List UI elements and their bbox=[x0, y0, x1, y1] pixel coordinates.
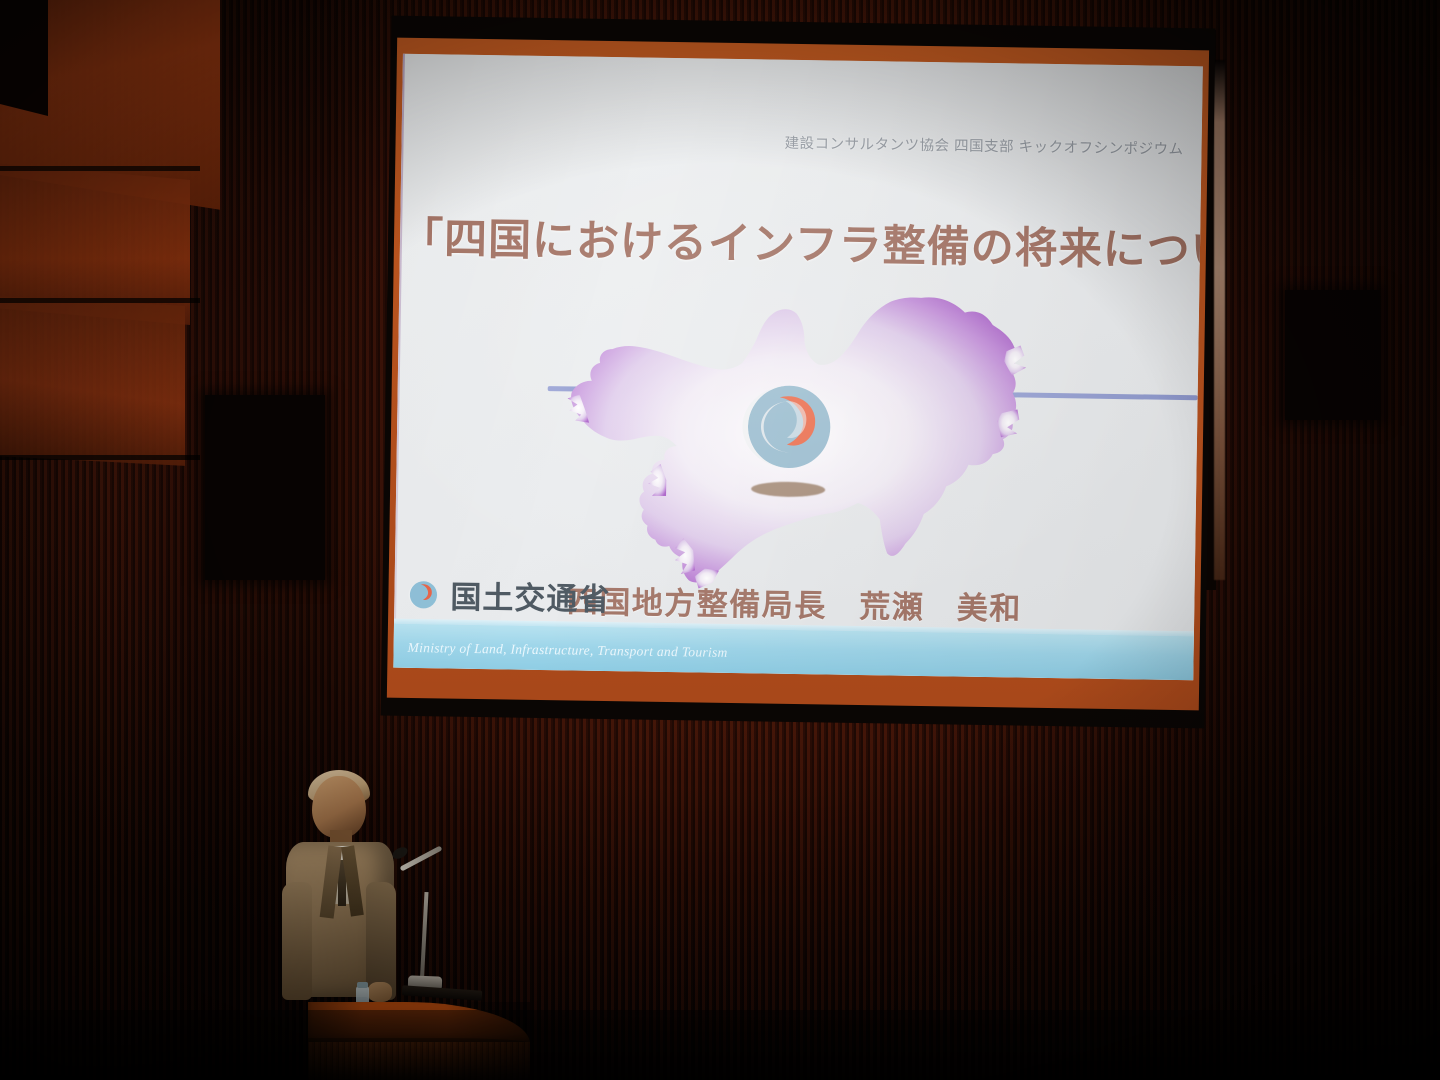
presentation-slide: 建設コンサルタンツ協会 四国支部 キックオフシンポジウム 「四国におけるインフラ… bbox=[393, 54, 1203, 680]
stage-floor bbox=[0, 1010, 1440, 1080]
screen-surface: 建設コンサルタンツ協会 四国支部 キックオフシンポジウム 「四国におけるインフラ… bbox=[393, 54, 1203, 680]
wall-panel-seam bbox=[0, 166, 200, 171]
speaker-head bbox=[312, 776, 366, 838]
microphone-stem bbox=[419, 892, 428, 988]
screenshot-root: 建設コンサルタンツ協会 四国支部 キックオフシンポジウム 「四国におけるインフラ… bbox=[0, 0, 1440, 1080]
ministry-logo-text: 国土交通省 bbox=[450, 572, 611, 620]
wall-light-strip bbox=[1214, 60, 1225, 580]
mlit-logo-icon bbox=[406, 576, 441, 611]
wall-panel-seam bbox=[0, 455, 200, 460]
slide-header-text: 建設コンサルタンツ協会 四国支部 キックオフシンポジウム bbox=[784, 132, 1183, 159]
speaker-hand bbox=[368, 982, 392, 1002]
decorative-rule-right bbox=[998, 392, 1198, 400]
wall-dark-notch bbox=[0, 0, 48, 116]
wall-recess-left bbox=[205, 395, 325, 580]
projection-screen: 建設コンサルタンツ協会 四国支部 キックオフシンポジウム 「四国におけるインフラ… bbox=[381, 16, 1216, 729]
mlit-emblem-icon bbox=[739, 377, 839, 477]
ministry-logo: 国土交通省 bbox=[406, 571, 611, 619]
slide-title: 「四国におけるインフラ整備の将来について」 bbox=[400, 204, 1201, 279]
water-bottle-cap bbox=[357, 982, 368, 988]
podium-desk-surface bbox=[402, 985, 483, 1001]
wall-recess-right bbox=[1285, 290, 1380, 420]
wall-panel-seam bbox=[0, 298, 200, 303]
speaker-arm-left bbox=[282, 882, 312, 1000]
wall-panel-lower-left bbox=[0, 294, 185, 466]
